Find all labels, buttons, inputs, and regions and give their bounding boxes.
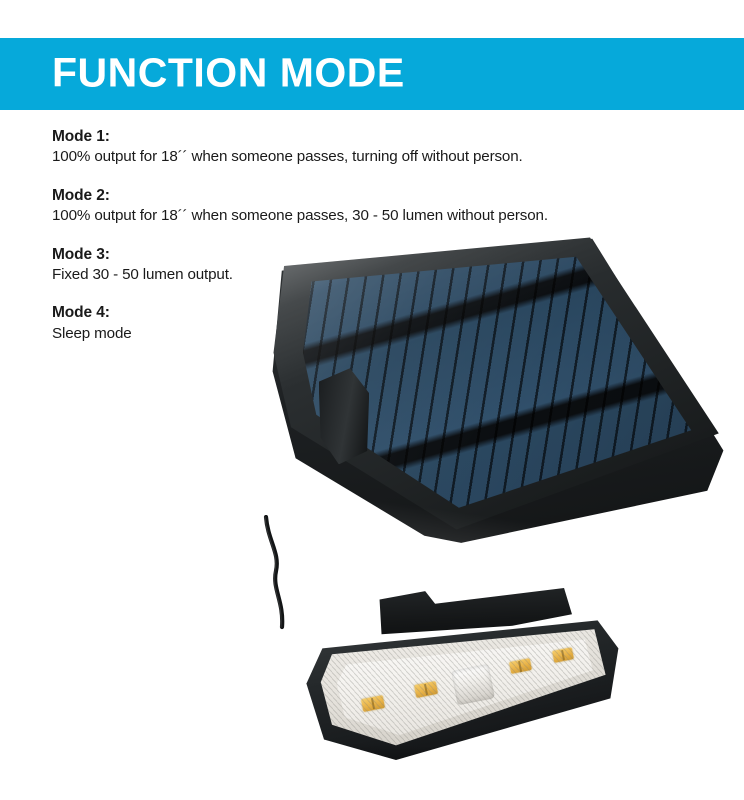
mode-1-description: 100% output for 18´´ when someone passes… <box>52 147 672 167</box>
page-title: FUNCTION MODE <box>52 53 405 94</box>
motion-sensor-lens <box>451 663 495 705</box>
mode-item-1: Mode 1: 100% output for 18´´ when someon… <box>52 127 672 168</box>
product-photo <box>0 230 744 775</box>
mode-1-label: Mode 1: <box>52 127 672 147</box>
mode-2-label: Mode 2: <box>52 186 672 206</box>
led-light-fixture <box>300 588 620 763</box>
solar-panel <box>268 235 728 545</box>
mode-item-2: Mode 2: 100% output for 18´´ when someon… <box>52 186 672 227</box>
header-banner: FUNCTION MODE <box>0 38 744 110</box>
mode-2-description: 100% output for 18´´ when someone passes… <box>52 206 672 226</box>
